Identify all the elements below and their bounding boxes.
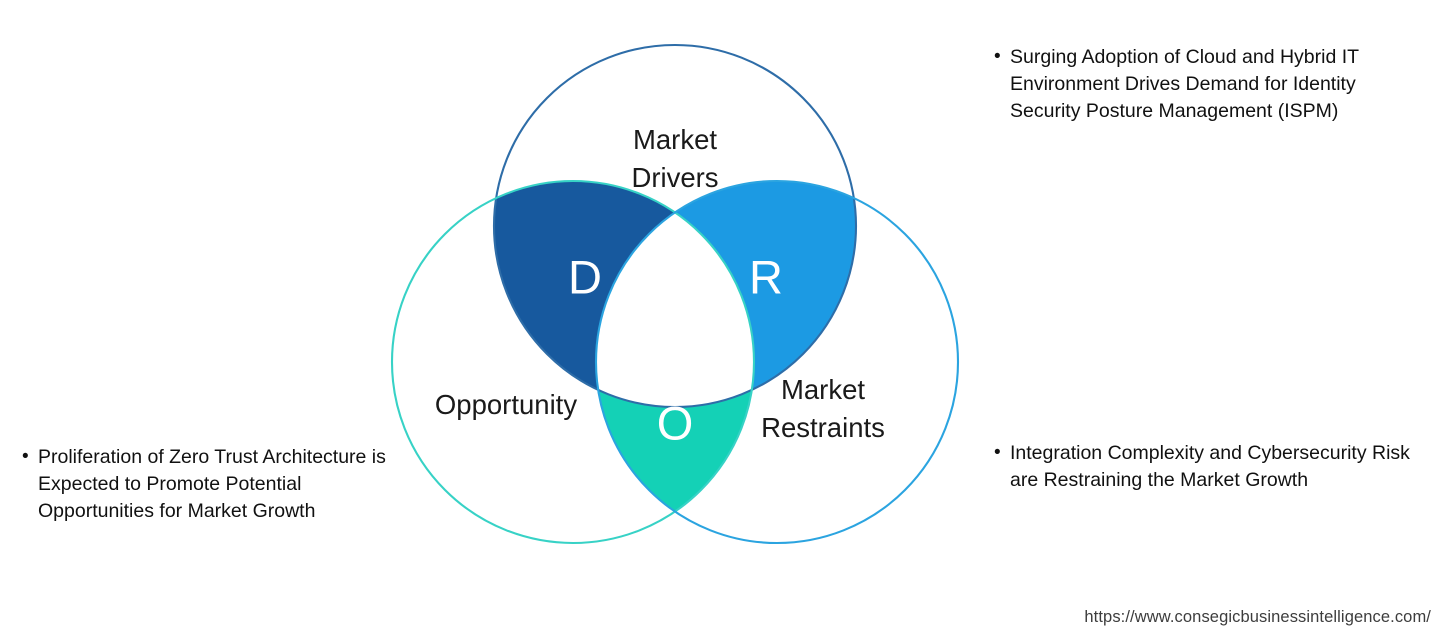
source-url[interactable]: https://www.consegicbusinessintelligence…	[1084, 608, 1431, 627]
venn-svg: D R O Market Drivers Opportunity Market …	[330, 0, 1030, 600]
venn-diagram: D R O Market Drivers Opportunity Market …	[330, 0, 1030, 600]
caption-market-drivers-line2: Drivers	[631, 162, 718, 193]
callout-market-restraints-text: Integration Complexity and Cybersecurity…	[1010, 440, 1414, 494]
lens-letter-o: O	[657, 396, 694, 449]
diagram-page: D R O Market Drivers Opportunity Market …	[0, 0, 1453, 643]
callout-market-restraints: • Integration Complexity and Cybersecuri…	[994, 440, 1414, 494]
caption-market-restraints-line1: Market	[781, 374, 865, 405]
callout-market-drivers-text: Surging Adoption of Cloud and Hybrid IT …	[1010, 44, 1424, 125]
callout-market-drivers: • Surging Adoption of Cloud and Hybrid I…	[994, 44, 1424, 125]
callout-opportunity: • Proliferation of Zero Trust Architectu…	[22, 444, 394, 525]
lens-letter-r: R	[749, 250, 783, 303]
bullet-icon: •	[22, 444, 38, 470]
bullet-icon: •	[994, 440, 1010, 466]
bullet-icon: •	[994, 44, 1010, 70]
caption-opportunity: Opportunity	[435, 389, 577, 420]
caption-market-drivers-line1: Market	[633, 124, 717, 155]
callout-opportunity-text: Proliferation of Zero Trust Architecture…	[38, 444, 394, 525]
lens-letter-d: D	[568, 250, 602, 303]
caption-market-restraints-line2: Restraints	[761, 412, 885, 443]
